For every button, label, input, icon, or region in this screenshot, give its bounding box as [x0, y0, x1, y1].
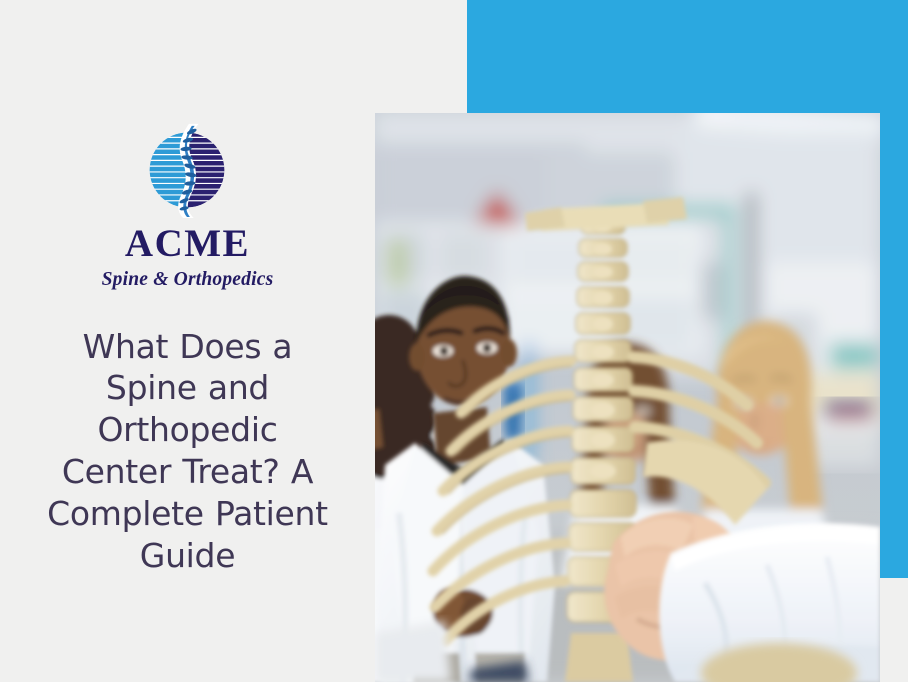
page-title: What Does a Spine and Orthopedic Center …	[38, 326, 338, 577]
poster-canvas: ACME Spine & Orthopedics What Does a Spi…	[0, 0, 908, 682]
brand-tagline: Spine & Orthopedics	[102, 270, 274, 290]
left-content-panel: ACME Spine & Orthopedics What Does a Spi…	[0, 0, 375, 682]
hero-photo	[375, 113, 880, 682]
brand-lockup: ACME Spine & Orthopedics	[102, 122, 274, 290]
spine-sphere-logo-icon	[139, 122, 235, 218]
brand-name: ACME	[125, 224, 250, 263]
